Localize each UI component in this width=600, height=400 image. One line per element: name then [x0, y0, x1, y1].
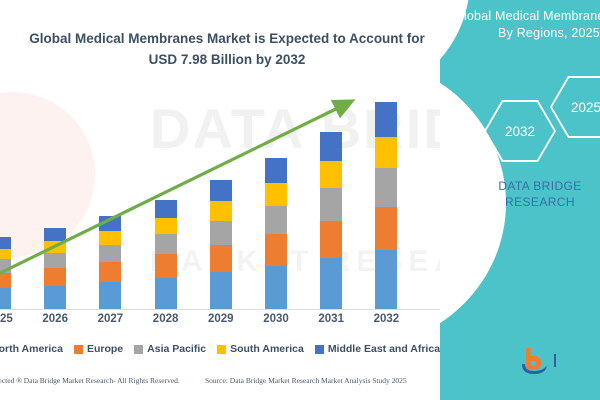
bar-segment	[99, 245, 121, 262]
bar-segment	[155, 254, 177, 277]
bar-segment	[375, 102, 397, 137]
chart-title: Global Medical Membranes Market is Expec…	[0, 28, 462, 70]
bar-segment	[320, 221, 342, 258]
x-axis-label-2032: 2032	[366, 313, 406, 325]
bar-segment	[44, 286, 66, 309]
bar-segment	[0, 259, 11, 272]
legend-item-asia-pacific[interactable]: Asia Pacific	[134, 343, 206, 355]
right-panel: Global Medical Membranes Market By Regio…	[440, 0, 600, 400]
bar-segment	[0, 288, 11, 309]
x-axis-labels: 20252026202720282029203020312032	[0, 313, 460, 331]
panel-brand: DATA BRIDGE RESEARCH	[450, 178, 600, 210]
bar-2029	[210, 180, 232, 309]
hexagon-2025-label: 2025	[571, 100, 600, 115]
panel-title: Global Medical Membranes Market By Regio…	[454, 8, 600, 42]
bar-segment	[99, 262, 121, 282]
bar-segment	[210, 180, 232, 201]
bar-segment	[99, 216, 121, 231]
bar-segment	[265, 158, 287, 183]
chart-legend: North AmericaEuropeAsia PacificSouth Ame…	[0, 340, 438, 358]
legend-item-middle-east-and-africa[interactable]: Middle East and Africa	[315, 343, 440, 355]
panel-title-line1: Global Medical Membranes Market	[454, 9, 600, 23]
legend-swatch-icon	[315, 345, 324, 354]
bar-segment	[44, 241, 66, 253]
footer-copyright: Protected ® Data Bridge Market Research-…	[0, 376, 180, 385]
legend-label: South America	[230, 343, 304, 355]
legend-swatch-icon	[74, 345, 83, 354]
footer: Protected ® Data Bridge Market Research-…	[0, 376, 460, 390]
bar-segment	[44, 228, 66, 241]
data-bridge-logo-icon	[514, 344, 584, 378]
x-axis-label-2030: 2030	[256, 313, 296, 325]
bar-2031	[320, 132, 342, 309]
legend-item-north-america[interactable]: North America	[0, 343, 63, 355]
bar-segment	[375, 207, 397, 250]
bar-2030	[265, 158, 287, 309]
bar-2027	[99, 216, 121, 309]
hexagon-2032-label: 2032	[505, 124, 535, 139]
bar-2032	[375, 102, 397, 309]
bar-segment	[320, 258, 342, 309]
bar-2028	[155, 200, 177, 309]
chart-title-line1: Global Medical Membranes Market is Expec…	[29, 31, 425, 46]
bar-segment	[210, 245, 232, 272]
chart-infographic: DATA BRIDGE MARKET RESEARCH Global Medic…	[0, 0, 600, 400]
bar-segment	[265, 266, 287, 309]
bar-segment	[155, 278, 177, 309]
bar-segment	[320, 132, 342, 161]
hexagon-badge-2025: 2025	[550, 76, 600, 138]
bar-group	[0, 88, 460, 309]
x-axis-label-2028: 2028	[146, 313, 186, 325]
bar-segment	[210, 272, 232, 309]
bar-segment	[155, 200, 177, 218]
bar-segment	[320, 188, 342, 221]
bar-2025	[0, 237, 11, 309]
legend-swatch-icon	[217, 345, 226, 354]
x-axis-label-2026: 2026	[35, 313, 75, 325]
bar-segment	[265, 206, 287, 234]
chart-title-line2: USD 7.98 Billion by 2032	[0, 49, 462, 70]
legend-label: Middle East and Africa	[328, 343, 440, 355]
legend-item-europe[interactable]: Europe	[74, 343, 123, 355]
legend-label: Asia Pacific	[147, 343, 206, 355]
bar-segment	[320, 161, 342, 188]
bar-segment	[0, 237, 11, 248]
legend-label: Europe	[87, 343, 123, 355]
bar-segment	[155, 218, 177, 234]
bar-segment	[265, 183, 287, 206]
bar-segment	[0, 249, 11, 260]
panel-title-line2: By Regions, 2025	[454, 25, 600, 42]
bar-segment	[99, 231, 121, 245]
bar-segment	[375, 137, 397, 169]
bar-segment	[0, 273, 11, 289]
bar-segment	[375, 250, 397, 309]
footer-source: Source: Data Bridge Market Research Mark…	[205, 376, 407, 385]
bar-segment	[44, 253, 66, 268]
legend-item-south-america[interactable]: South America	[217, 343, 304, 355]
x-axis-label-2025: 2025	[0, 313, 20, 325]
plot-area	[0, 88, 460, 310]
legend-label: North America	[0, 343, 63, 355]
x-axis-label-2029: 2029	[201, 313, 241, 325]
legend-swatch-icon	[134, 345, 143, 354]
bar-segment	[375, 168, 397, 207]
x-axis-line	[0, 309, 455, 310]
bar-segment	[99, 282, 121, 309]
bar-2026	[44, 228, 66, 309]
bar-segment	[210, 201, 232, 220]
x-axis-label-2027: 2027	[90, 313, 130, 325]
bar-segment	[155, 234, 177, 254]
bar-segment	[265, 234, 287, 266]
bar-segment	[44, 268, 66, 285]
bar-segment	[210, 221, 232, 245]
panel-brand-line2: RESEARCH	[450, 194, 600, 210]
panel-brand-line1: DATA BRIDGE	[450, 178, 600, 194]
x-axis-label-2031: 2031	[311, 313, 351, 325]
